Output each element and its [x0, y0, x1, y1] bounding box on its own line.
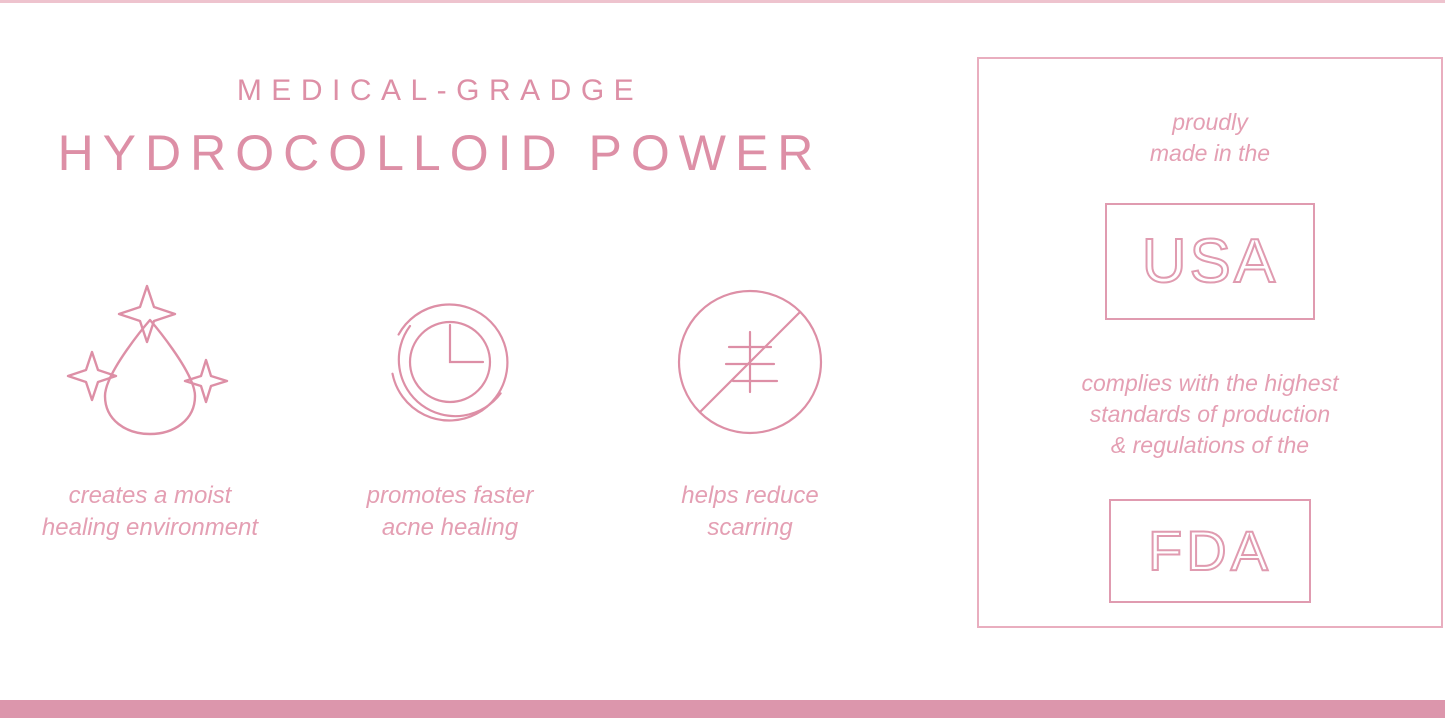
feature-caption: helps reduce scarring [681, 480, 818, 543]
infographic-root: MEDICAL-GRADGE HYDROCOLLOID POWER create… [0, 0, 1445, 718]
feature-item-reduce-scarring: helps reduce scarring [600, 262, 900, 543]
compliance-text: complies with the highest standards of p… [1082, 368, 1339, 461]
no-scarring-icon [650, 262, 850, 462]
fda-badge-label: FDA [1148, 523, 1272, 579]
heading-block: MEDICAL-GRADGE HYDROCOLLOID POWER [0, 76, 880, 178]
top-divider-rule [0, 0, 1445, 3]
feature-caption: creates a moist healing environment [42, 480, 258, 543]
clock-motion-icon [350, 262, 550, 462]
usa-badge-label: USA [1142, 231, 1278, 293]
feature-caption: promotes faster acne healing [367, 480, 534, 543]
eyebrow-heading: MEDICAL-GRADGE [0, 76, 880, 106]
water-droplet-sparkle-icon [50, 262, 250, 462]
fda-badge: FDA [1109, 499, 1311, 603]
usa-badge: USA [1105, 203, 1315, 320]
feature-item-faster-healing: promotes faster acne healing [300, 262, 600, 543]
feature-list: creates a moist healing environment prom… [0, 262, 900, 543]
feature-item-moist-healing: creates a moist healing environment [0, 262, 300, 543]
bottom-accent-bar [0, 700, 1445, 718]
made-in-text: proudly made in the [1150, 107, 1270, 169]
page-title: HYDROCOLLOID POWER [0, 128, 880, 178]
certification-panel: proudly made in the USA complies with th… [977, 57, 1443, 628]
certification-panel-content: proudly made in the USA complies with th… [979, 59, 1441, 626]
